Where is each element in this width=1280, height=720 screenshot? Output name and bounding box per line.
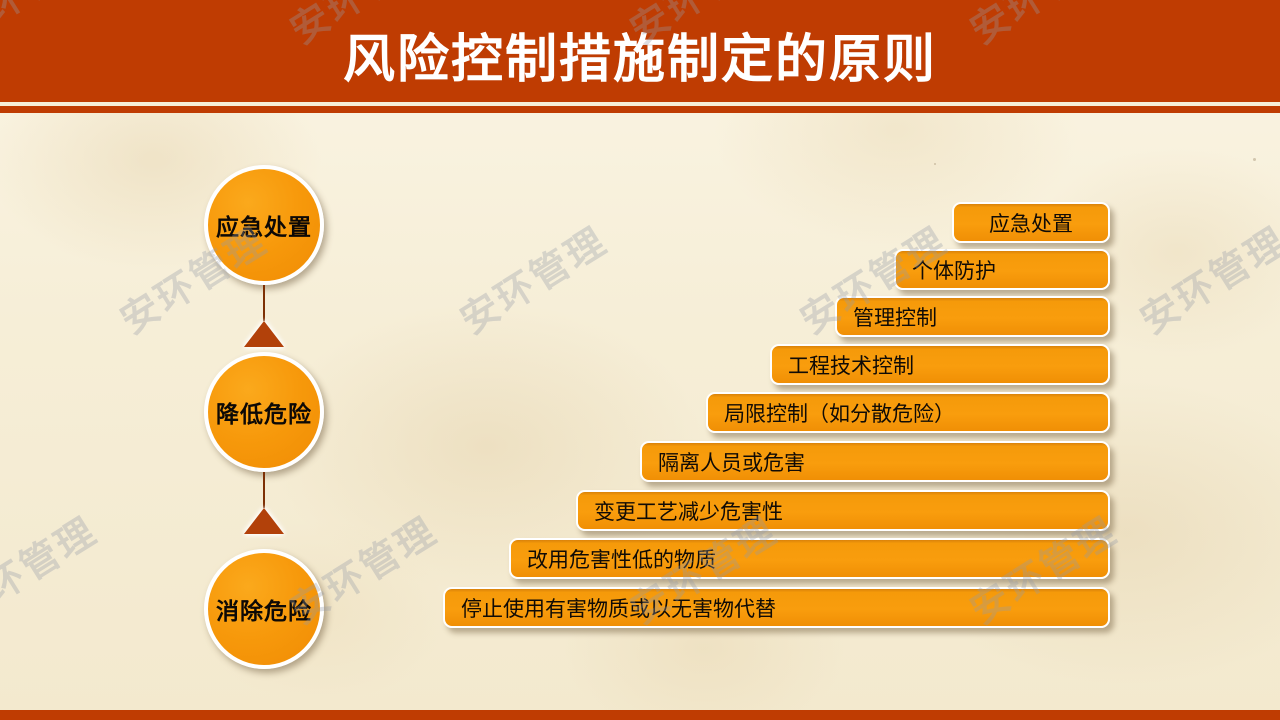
chain-node-label: 降低危险 — [216, 395, 312, 429]
slide-canvas: 风险控制措施制定的原则 应急处置 降低危险 消除危险 应急处置 个体防护 管理控… — [0, 0, 1280, 720]
chain-connector-line-2 — [263, 472, 265, 508]
staircase-step-label: 停止使用有害物质或以无害物代替 — [461, 593, 776, 623]
chain-node-eliminate-risk[interactable]: 消除危险 — [204, 549, 324, 669]
chain-connector-line-1 — [263, 285, 265, 321]
staircase-step-isolate-people-or-hazard[interactable]: 隔离人员或危害 — [640, 441, 1110, 482]
chain-node-label: 消除危险 — [216, 592, 312, 626]
staircase-step-label: 改用危害性低的物质 — [527, 544, 716, 574]
footer-band — [0, 710, 1280, 720]
staircase-step-stop-hazardous-substance[interactable]: 停止使用有害物质或以无害物代替 — [443, 587, 1110, 628]
staircase-step-change-process[interactable]: 变更工艺减少危害性 — [576, 490, 1110, 531]
staircase-step-management-control[interactable]: 管理控制 — [835, 296, 1110, 337]
staircase-step-label: 局限控制（如分散危险） — [724, 398, 955, 428]
staircase-step-label: 个体防护 — [912, 255, 996, 285]
staircase-step-emergency-response[interactable]: 应急处置 — [952, 202, 1110, 243]
watermark-text: 安环管理 — [0, 501, 106, 635]
staircase-step-label: 隔离人员或危害 — [658, 447, 805, 477]
staircase-step-label: 工程技术控制 — [788, 350, 914, 380]
staircase-step-label: 变更工艺减少危害性 — [594, 496, 783, 526]
chain-arrow-up-icon-2 — [244, 508, 284, 534]
chain-node-label: 应急处置 — [216, 208, 312, 242]
page-title: 风险控制措施制定的原则 — [0, 17, 1280, 92]
staircase-step-personal-protection[interactable]: 个体防护 — [894, 249, 1110, 290]
chain-node-reduce-risk[interactable]: 降低危险 — [204, 352, 324, 472]
paper-speck — [1253, 158, 1256, 161]
chain-node-emergency-response[interactable]: 应急处置 — [204, 165, 324, 285]
watermark-text: 安环管理 — [1128, 211, 1280, 345]
staircase-step-containment-control[interactable]: 局限控制（如分散危险） — [706, 392, 1110, 433]
paper-speck — [934, 163, 936, 165]
header-band-lower — [0, 106, 1280, 113]
watermark-text: 安环管理 — [448, 211, 616, 345]
staircase-step-label: 应急处置 — [989, 208, 1073, 238]
chain-arrow-up-icon-1 — [244, 321, 284, 347]
staircase-step-label: 管理控制 — [853, 302, 937, 332]
staircase-step-engineering-control[interactable]: 工程技术控制 — [770, 344, 1110, 385]
staircase-step-substitute-low-hazard[interactable]: 改用危害性低的物质 — [509, 538, 1110, 579]
